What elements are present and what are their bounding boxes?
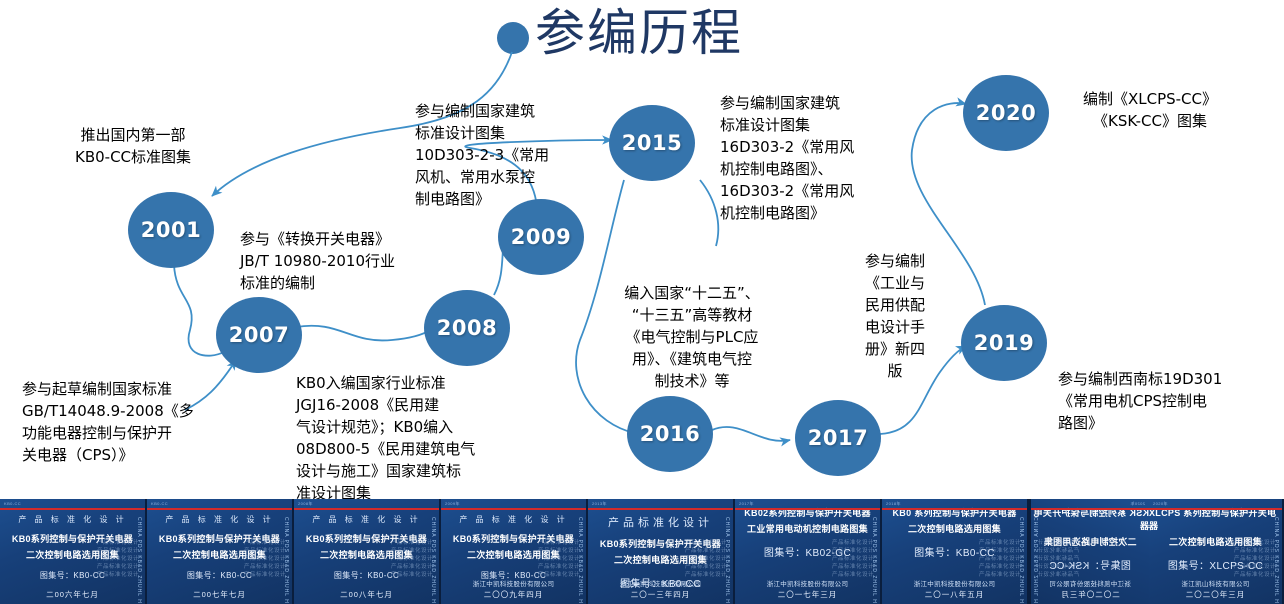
milestone-note-2020: 编制《XLCPS-CC》 《KSK-CC》图集 xyxy=(1055,88,1245,132)
cover-organization: 浙江中凯科技股份有限公司 xyxy=(473,578,555,588)
cover-date: 二〇二〇年三月 xyxy=(1060,589,1120,600)
cover-watermark-text: 产品标准化设计 产品标准化设计 产品标准化设计 产品标准化设计 产品标准化设计 xyxy=(97,539,139,579)
atlas-cover: 2013年CHINA PDS KB&D ZHUHL HUA 1产品标准化设计KB… xyxy=(588,499,735,604)
cover-corner-tag: KB0-CC xyxy=(151,501,168,506)
atlas-cover: KB0-CCCHINA PDS KB&D ZHUHL HUA 1产 品 标 准 … xyxy=(0,499,147,604)
milestone-circle-2008[interactable]: 2008 xyxy=(424,290,510,366)
cover-organization: 浙江中凯科技股份有限公司 xyxy=(767,578,849,588)
cover-watermark-text: 产品标准化设计 产品标准化设计 产品标准化设计 产品标准化设计 产品标准化设计 xyxy=(832,539,874,579)
milestone-year-label: 2016 xyxy=(640,422,700,446)
milestone-year-label: 2017 xyxy=(808,426,868,450)
milestone-note-2019: 参与编制 《工业与 民用供配 电设计手 册》新四 版 xyxy=(850,250,940,382)
milestone-circle-2007[interactable]: 2007 xyxy=(216,297,302,373)
cover-organization: 浙江中凯科技股份有限公司 xyxy=(1049,578,1131,588)
milestone-year-label: 2007 xyxy=(229,323,289,347)
milestone-year-label: 2001 xyxy=(141,218,201,242)
milestone-note-2001: 推出国内第一部 KB0-CC标准图集 xyxy=(38,124,228,168)
cover-date: 二〇一三年四月 xyxy=(631,589,691,600)
cover-title-line-2: 工业常用电动机控制电路图集 xyxy=(747,522,868,535)
cover-corner-tag: 2018年 xyxy=(886,501,901,507)
milestone-year-label: 2009 xyxy=(511,225,571,249)
cover-date: 二00七年七月 xyxy=(193,589,246,600)
timeline-infographic: 参编历程 xyxy=(0,0,1284,604)
cover-date: 二〇二〇年三月 xyxy=(1186,589,1246,600)
cover-watermark-text: 产品标准化设计 产品标准化设计 产品标准化设计 产品标准化设计 产品标准化设计 xyxy=(538,539,580,579)
cover-date: 二〇一八年五月 xyxy=(925,589,985,600)
atlas-cover: 2017年CHINA PDS KB&D ZHUHL HUA 1KB02系列控制与… xyxy=(735,499,882,604)
milestone-circle-2020[interactable]: 2020 xyxy=(963,75,1049,151)
cover-atlas-code: 图集号：KB0-CC xyxy=(334,570,399,581)
cover-title-line-1: XLCPS 系列控制与保护开关电器 xyxy=(1149,506,1282,532)
milestone-year-label: 2019 xyxy=(974,331,1034,355)
cover-corner-tag: 2017年 xyxy=(739,501,754,507)
cover-date: 二〇〇九年四月 xyxy=(484,589,544,600)
milestone-circle-2017[interactable]: 2017 xyxy=(795,400,881,476)
cover-watermark-text: 产品标准化设计 产品标准化设计 产品标准化设计 产品标准化设计 产品标准化设计 xyxy=(244,539,286,579)
milestone-note-2008: 参与《转换开关电器》 JB/T 10980-2010行业 标准的编制 xyxy=(240,228,450,294)
milestone-note-2016: 编入国家“十二五”、 “十三五”高等教材 《电气控制与PLC应 用》、《建筑电气… xyxy=(592,282,792,392)
cover-watermark-text: 产品标准化设计 产品标准化设计 产品标准化设计 产品标准化设计 产品标准化设计 xyxy=(685,539,727,579)
milestone-note-2019-right: 参与编制西南标19D301 《常用电机CPS控制电 路图》 xyxy=(1058,368,1268,434)
milestone-circle-2009[interactable]: 2009 xyxy=(498,199,584,275)
atlas-cover-strip: KB0-CCCHINA PDS KB&D ZHUHL HUA 1产 品 标 准 … xyxy=(0,499,1284,604)
cover-atlas-code: 图集号：KB0-CC xyxy=(187,570,252,581)
atlas-cover: 2020年CHINA PDS KB&D ZHUHL HUA 1KSK 系列控制与… xyxy=(1029,499,1149,604)
cover-heading: 产 品 标 准 化 设 计 xyxy=(165,514,273,525)
cover-organization: 浙江中凯科技股份有限公司 xyxy=(914,578,996,588)
cover-corner-tag: 2020年 xyxy=(1153,501,1168,507)
cover-title-line-1: KSK 系列控制与保护开关电器 xyxy=(1031,506,1149,532)
milestone-note-2009: KB0入编国家行业标准 JGJ16-2008《民用建 气设计规范》；KB0编入 … xyxy=(296,372,486,504)
cover-watermark-text: 产品标准化设计 产品标准化设计 产品标准化设计 产品标准化设计 产品标准化设计 xyxy=(1037,539,1079,579)
cover-date: 二00八年七月 xyxy=(340,589,393,600)
cover-watermark-text: 产品标准化设计 产品标准化设计 产品标准化设计 产品标准化设计 产品标准化设计 xyxy=(979,539,1021,579)
milestone-circle-2001[interactable]: 2001 xyxy=(128,192,214,268)
milestone-circle-2015[interactable]: 2015 xyxy=(609,105,695,181)
atlas-cover: 2009年CHINA PDS KB&D ZHUHL HUA 1产 品 标 准 化… xyxy=(441,499,588,604)
cover-watermark-text: 产品标准化设计 产品标准化设计 产品标准化设计 产品标准化设计 产品标准化设计 xyxy=(1234,539,1276,579)
cover-corner-tag: 2013年 xyxy=(592,501,607,507)
cover-date: 二〇一七年三月 xyxy=(778,589,838,600)
cover-corner-tag: 2008年 xyxy=(298,501,313,507)
cover-watermark-text: 产品标准化设计 产品标准化设计 产品标准化设计 产品标准化设计 产品标准化设计 xyxy=(391,539,433,579)
page-title: 参编历程 xyxy=(497,4,743,62)
cover-heading: 产 品 标 准 化 设 计 xyxy=(312,514,420,525)
milestone-circle-2016[interactable]: 2016 xyxy=(627,396,713,472)
milestone-year-label: 2020 xyxy=(976,101,1036,125)
cover-heading: 产 品 标 准 化 设 计 xyxy=(459,514,567,525)
page-title-text: 参编历程 xyxy=(535,4,743,62)
atlas-cover: 2008年CHINA PDS KB&D ZHUHL HUA 1产 品 标 准 化… xyxy=(294,499,441,604)
cover-organization: 浙江凯山科技有限公司 xyxy=(1182,578,1250,588)
atlas-cover: 2020年CHINA PDS KB&D ZHUHL HUA 1XLCPS 系列控… xyxy=(1149,499,1284,604)
milestone-note-2015: 参与编制国家建筑 标准设计图集 10D303-2-3《常用 风机、常用水泵控 制… xyxy=(415,100,575,210)
cover-heading: 产 品 标 准 化 设 计 xyxy=(18,514,126,525)
milestone-year-label: 2015 xyxy=(622,131,682,155)
cover-title-line-1: KB02系列控制与保护开关电器 xyxy=(744,506,871,519)
blue-dot-icon xyxy=(497,22,529,54)
milestone-note-2017: 参与编制国家建筑 标准设计图集 16D303-2《常用风 机控制电路图》、 16… xyxy=(720,92,885,224)
cover-title-line-1: KB0 系列控制与保护开关电器 xyxy=(892,506,1016,519)
milestone-year-label: 2008 xyxy=(437,316,497,340)
cover-date: 二00六年七月 xyxy=(46,589,99,600)
milestone-circle-2019[interactable]: 2019 xyxy=(961,305,1047,381)
cover-atlas-code: 图集号：KB0-CC xyxy=(40,570,105,581)
cover-corner-tag: 2020年 xyxy=(1130,501,1145,507)
cover-title-line-2: 二次控制电路选用图集 xyxy=(908,522,1001,535)
atlas-cover: 2018年CHINA PDS KB&D ZHUHL HUA 1KB0 系列控制与… xyxy=(882,499,1029,604)
cover-corner-tag: 2009年 xyxy=(445,501,460,507)
cover-heading: 产品标准化设计 xyxy=(608,514,713,530)
atlas-cover: KB0-CCCHINA PDS KB&D ZHUHL HUA 1产 品 标 准 … xyxy=(147,499,294,604)
cover-organization: 浙江中凯科技股份有限公司 xyxy=(620,578,702,588)
cover-corner-tag: KB0-CC xyxy=(4,501,21,506)
milestone-note-2007: 参与起草编制国家标准 GB/T14048.9-2008《多 功能电器控制与保护开… xyxy=(22,378,252,466)
